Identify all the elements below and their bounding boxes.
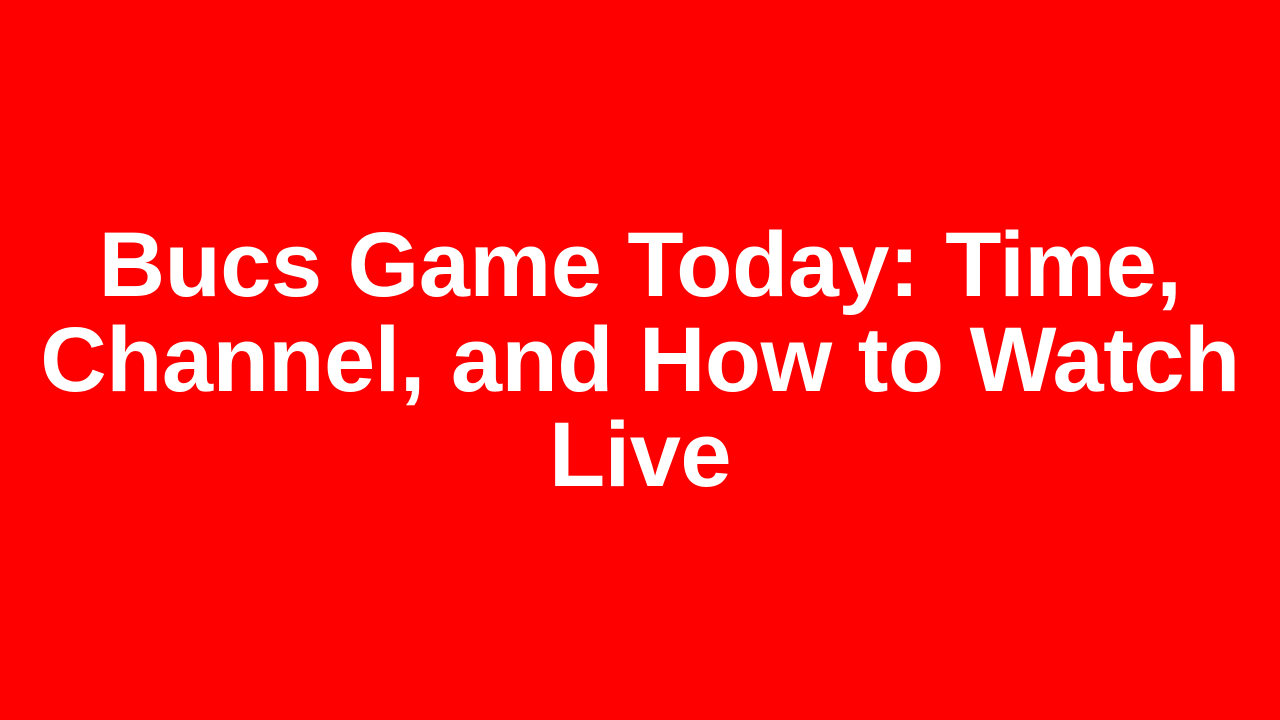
page-title: Bucs Game Today: Time, Channel, and How …	[14, 218, 1266, 503]
hero-banner: Bucs Game Today: Time, Channel, and How …	[0, 0, 1280, 720]
